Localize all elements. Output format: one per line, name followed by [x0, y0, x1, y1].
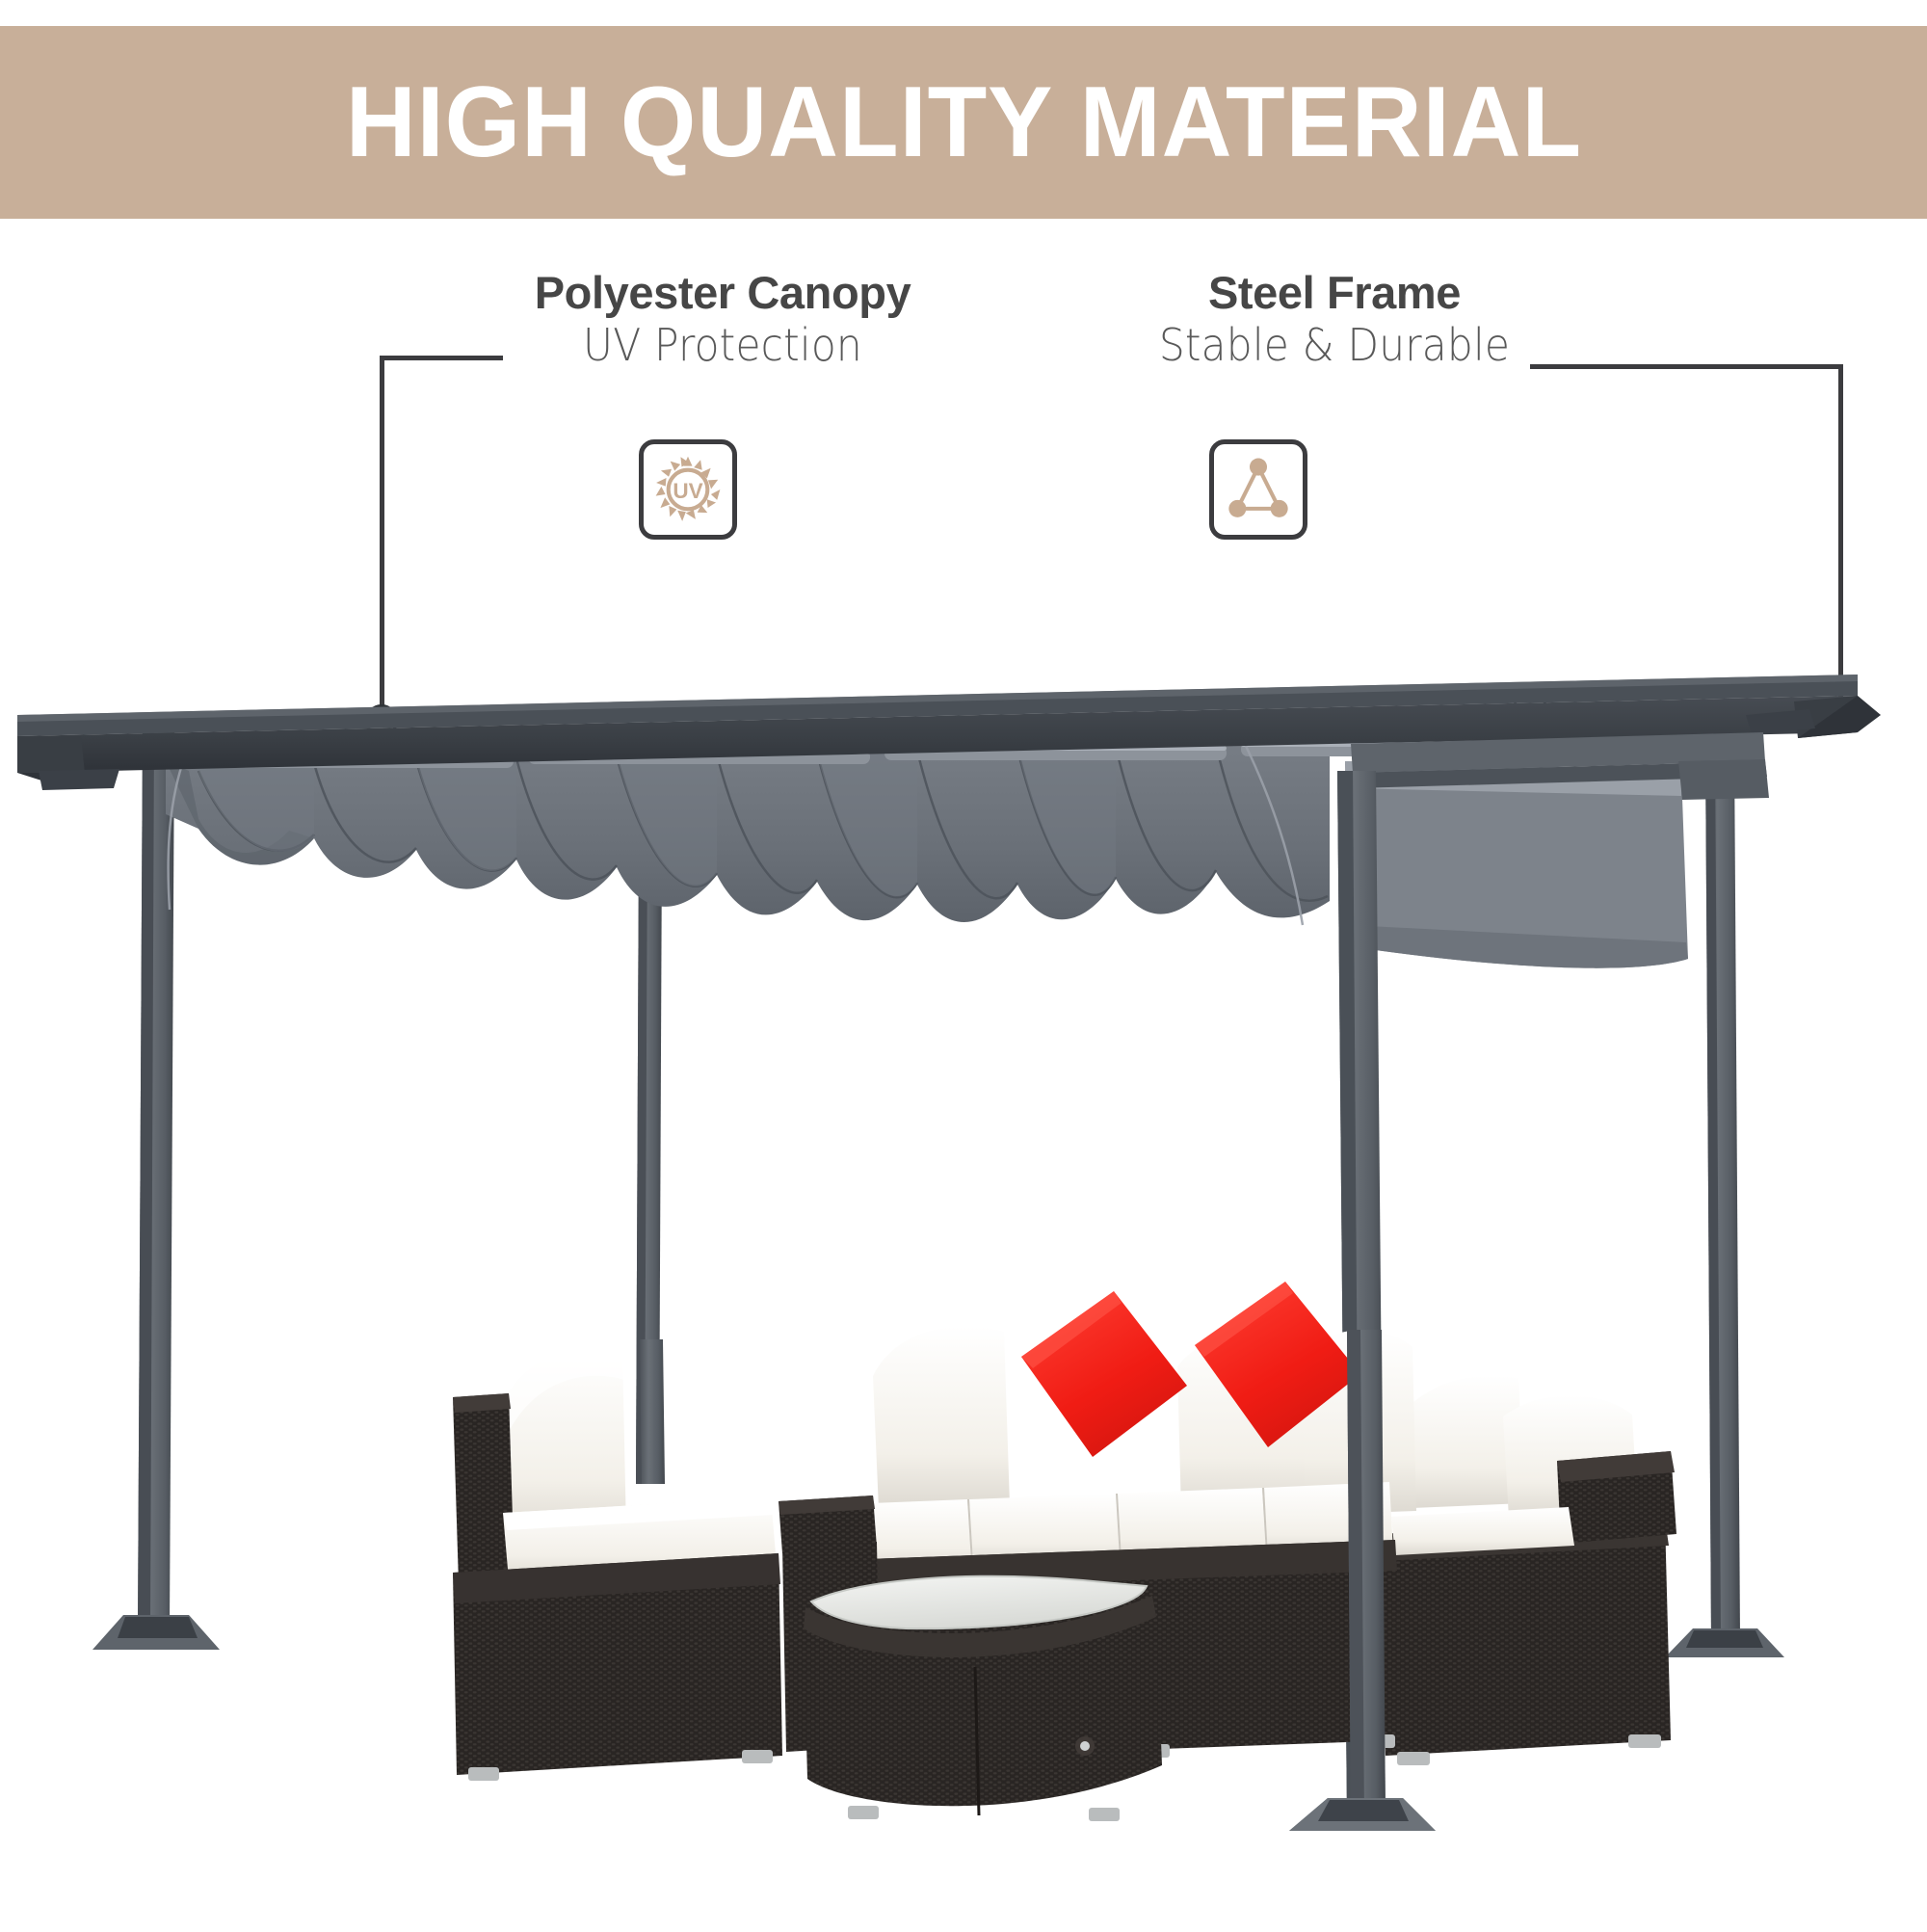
infographic-canvas: HIGH QUALITY MATERIAL Polyester Canopy U…: [0, 0, 1927, 1927]
rattan-sofa-set: [0, 0, 1927, 1927]
accent-pillow-left: [1021, 1291, 1187, 1457]
coffee-table-curved: [804, 1576, 1162, 1821]
pergola-post-mid-left-overlay: [640, 1339, 665, 1484]
sofa-right-corner: [1380, 1376, 1676, 1765]
armchair-left: [453, 1347, 782, 1781]
